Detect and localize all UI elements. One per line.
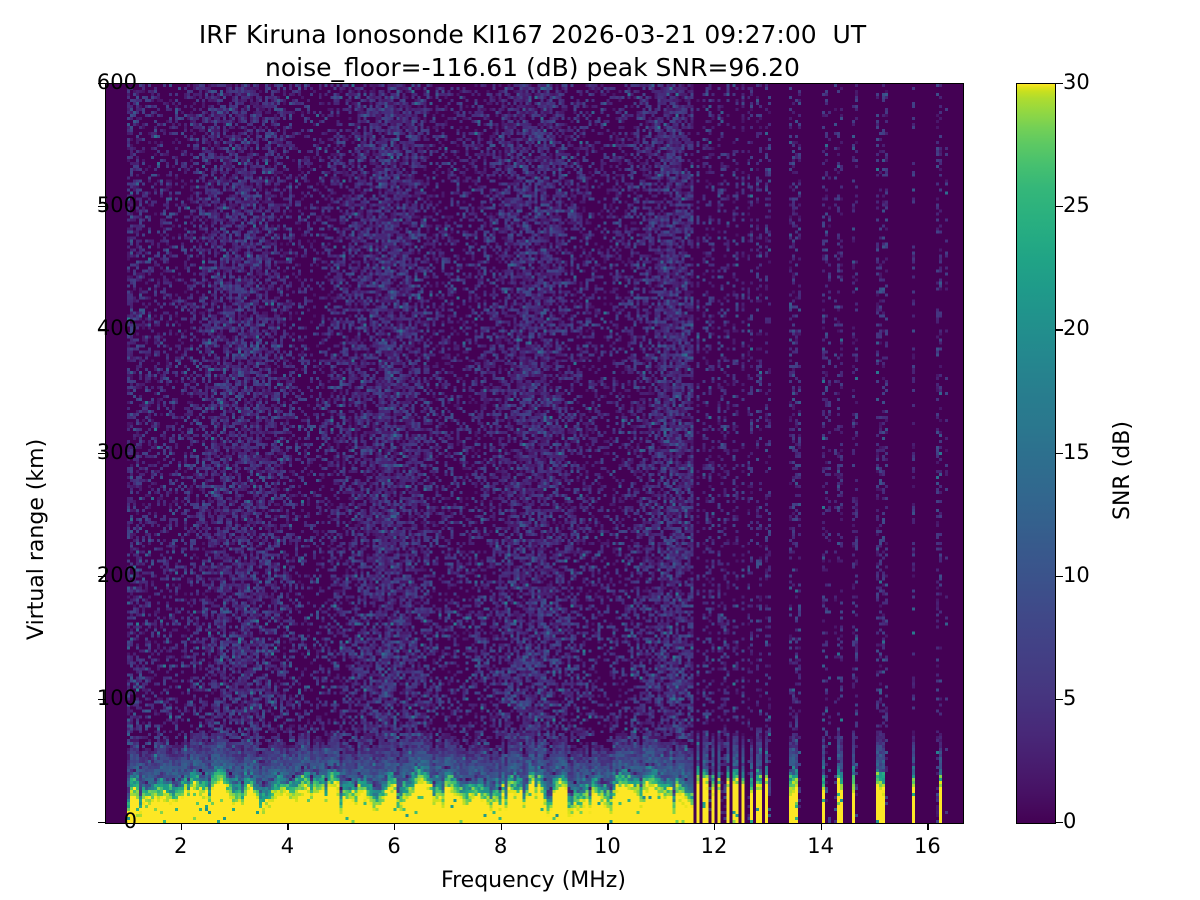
y-tick-mark [98,822,105,823]
y-tick-mark [98,576,105,577]
y-tick-label: 400 [0,318,137,339]
colorbar-tick-label: 5 [1063,688,1183,709]
x-tick-label: 4 [227,836,347,857]
x-tick-mark [714,823,715,830]
colorbar-tick-label: 0 [1063,811,1183,832]
colorbar-tick-mark [1056,329,1063,330]
colorbar-tick-mark [1056,699,1063,700]
x-tick-mark [927,823,928,830]
x-axis-label: Frequency (MHz) [105,870,962,892]
y-tick-mark [98,453,105,454]
x-tick-mark [607,823,608,830]
colorbar [1016,83,1056,824]
colorbar-label: SNR (dB) [1112,421,1134,520]
x-tick-mark [181,823,182,830]
heatmap-canvas [106,84,963,823]
colorbar-tick-mark [1056,83,1063,84]
x-tick-label: 8 [441,836,561,857]
y-tick-label: 200 [0,565,137,586]
x-tick-label: 16 [867,836,987,857]
colorbar-tick-mark [1056,453,1063,454]
colorbar-tick-label: 10 [1063,565,1183,586]
plot-area [105,83,964,824]
colorbar-tick-label: 25 [1063,195,1183,216]
colorbar-tick-mark [1056,576,1063,577]
colorbar-tick-mark [1056,822,1063,823]
x-tick-label: 14 [761,836,881,857]
title-line-2: noise_floor=-116.61 (dB) peak SNR=96.20 [0,51,1065,84]
y-tick-label: 0 [0,811,137,832]
x-tick-mark [287,823,288,830]
x-tick-mark [394,823,395,830]
y-tick-mark [98,329,105,330]
x-tick-label: 12 [654,836,774,857]
y-tick-label: 600 [0,72,137,93]
y-axis-label: Virtual range (km) [26,439,48,640]
chart-title: IRF Kiruna Ionosonde KI167 2026-03-21 09… [0,18,1065,84]
x-tick-mark [501,823,502,830]
y-tick-label: 300 [0,442,137,463]
title-line-1: IRF Kiruna Ionosonde KI167 2026-03-21 09… [0,18,1065,51]
ionogram-heatmap [106,84,963,823]
y-tick-label: 500 [0,195,137,216]
colorbar-tick-label: 20 [1063,318,1183,339]
x-tick-label: 2 [121,836,241,857]
x-tick-label: 6 [334,836,454,857]
y-tick-mark [98,699,105,700]
colorbar-tick-label: 30 [1063,72,1183,93]
y-tick-mark [98,83,105,84]
x-tick-label: 10 [547,836,667,857]
x-tick-mark [821,823,822,830]
y-tick-label: 100 [0,688,137,709]
ionogram-figure: IRF Kiruna Ionosonde KI167 2026-03-21 09… [0,0,1200,900]
colorbar-tick-mark [1056,206,1063,207]
y-tick-mark [98,206,105,207]
